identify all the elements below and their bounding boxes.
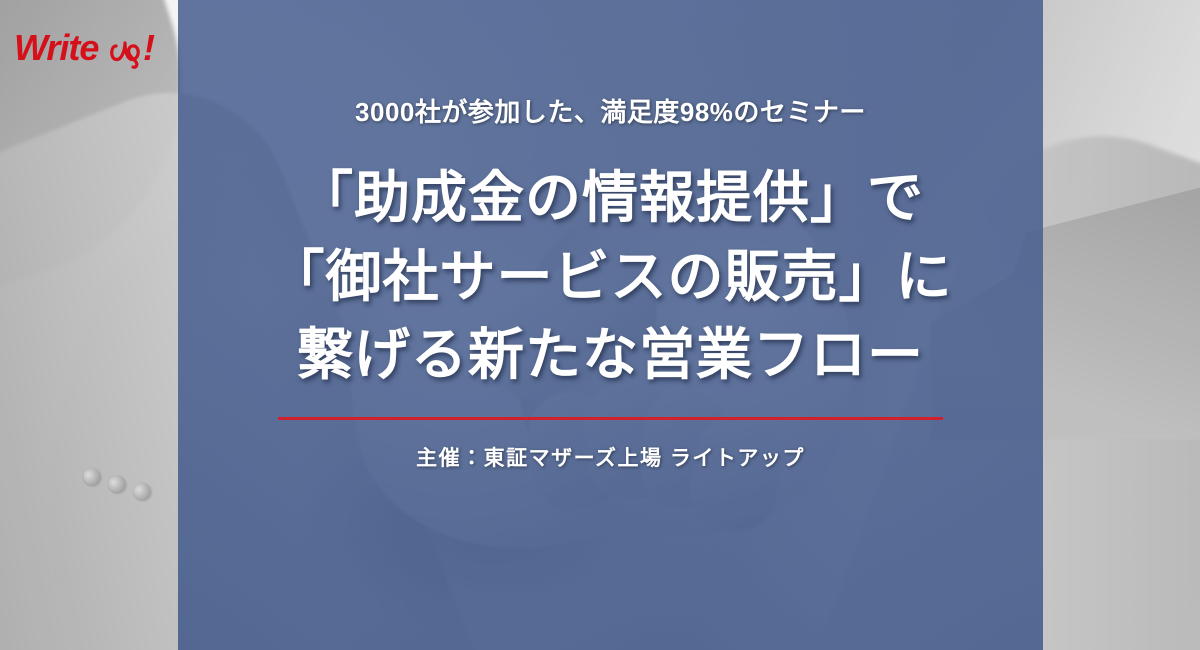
red-divider <box>278 417 943 420</box>
headline-line-3: 繋げる新たな営業フロー <box>269 324 953 387</box>
organizer-text: 主催：東証マザーズ上場 ライトアップ <box>416 442 805 472</box>
eyebrow-text: 3000社が参加した、満足度98%のセミナー <box>355 92 866 129</box>
svg-text:Write: Write <box>14 27 99 68</box>
headline-line-2: 「御社サービスの販売」に <box>269 246 953 309</box>
svg-text:!: ! <box>143 27 155 68</box>
headline-line-1: 「助成金の情報提供」で <box>269 167 953 230</box>
writeup-logo-icon: Write ! <box>12 22 177 76</box>
banner-content: 3000社が参加した、満足度98%のセミナー 「助成金の情報提供」で 「御社サー… <box>178 0 1043 650</box>
seminar-banner: Write ! 3000社が参加した、満足度98%のセミナー 「助成金の情報提供… <box>0 0 1200 650</box>
headline-block: 「助成金の情報提供」で 「御社サービスの販売」に 繋げる新たな営業フロー <box>269 167 953 387</box>
writeup-logo[interactable]: Write ! <box>12 22 177 76</box>
